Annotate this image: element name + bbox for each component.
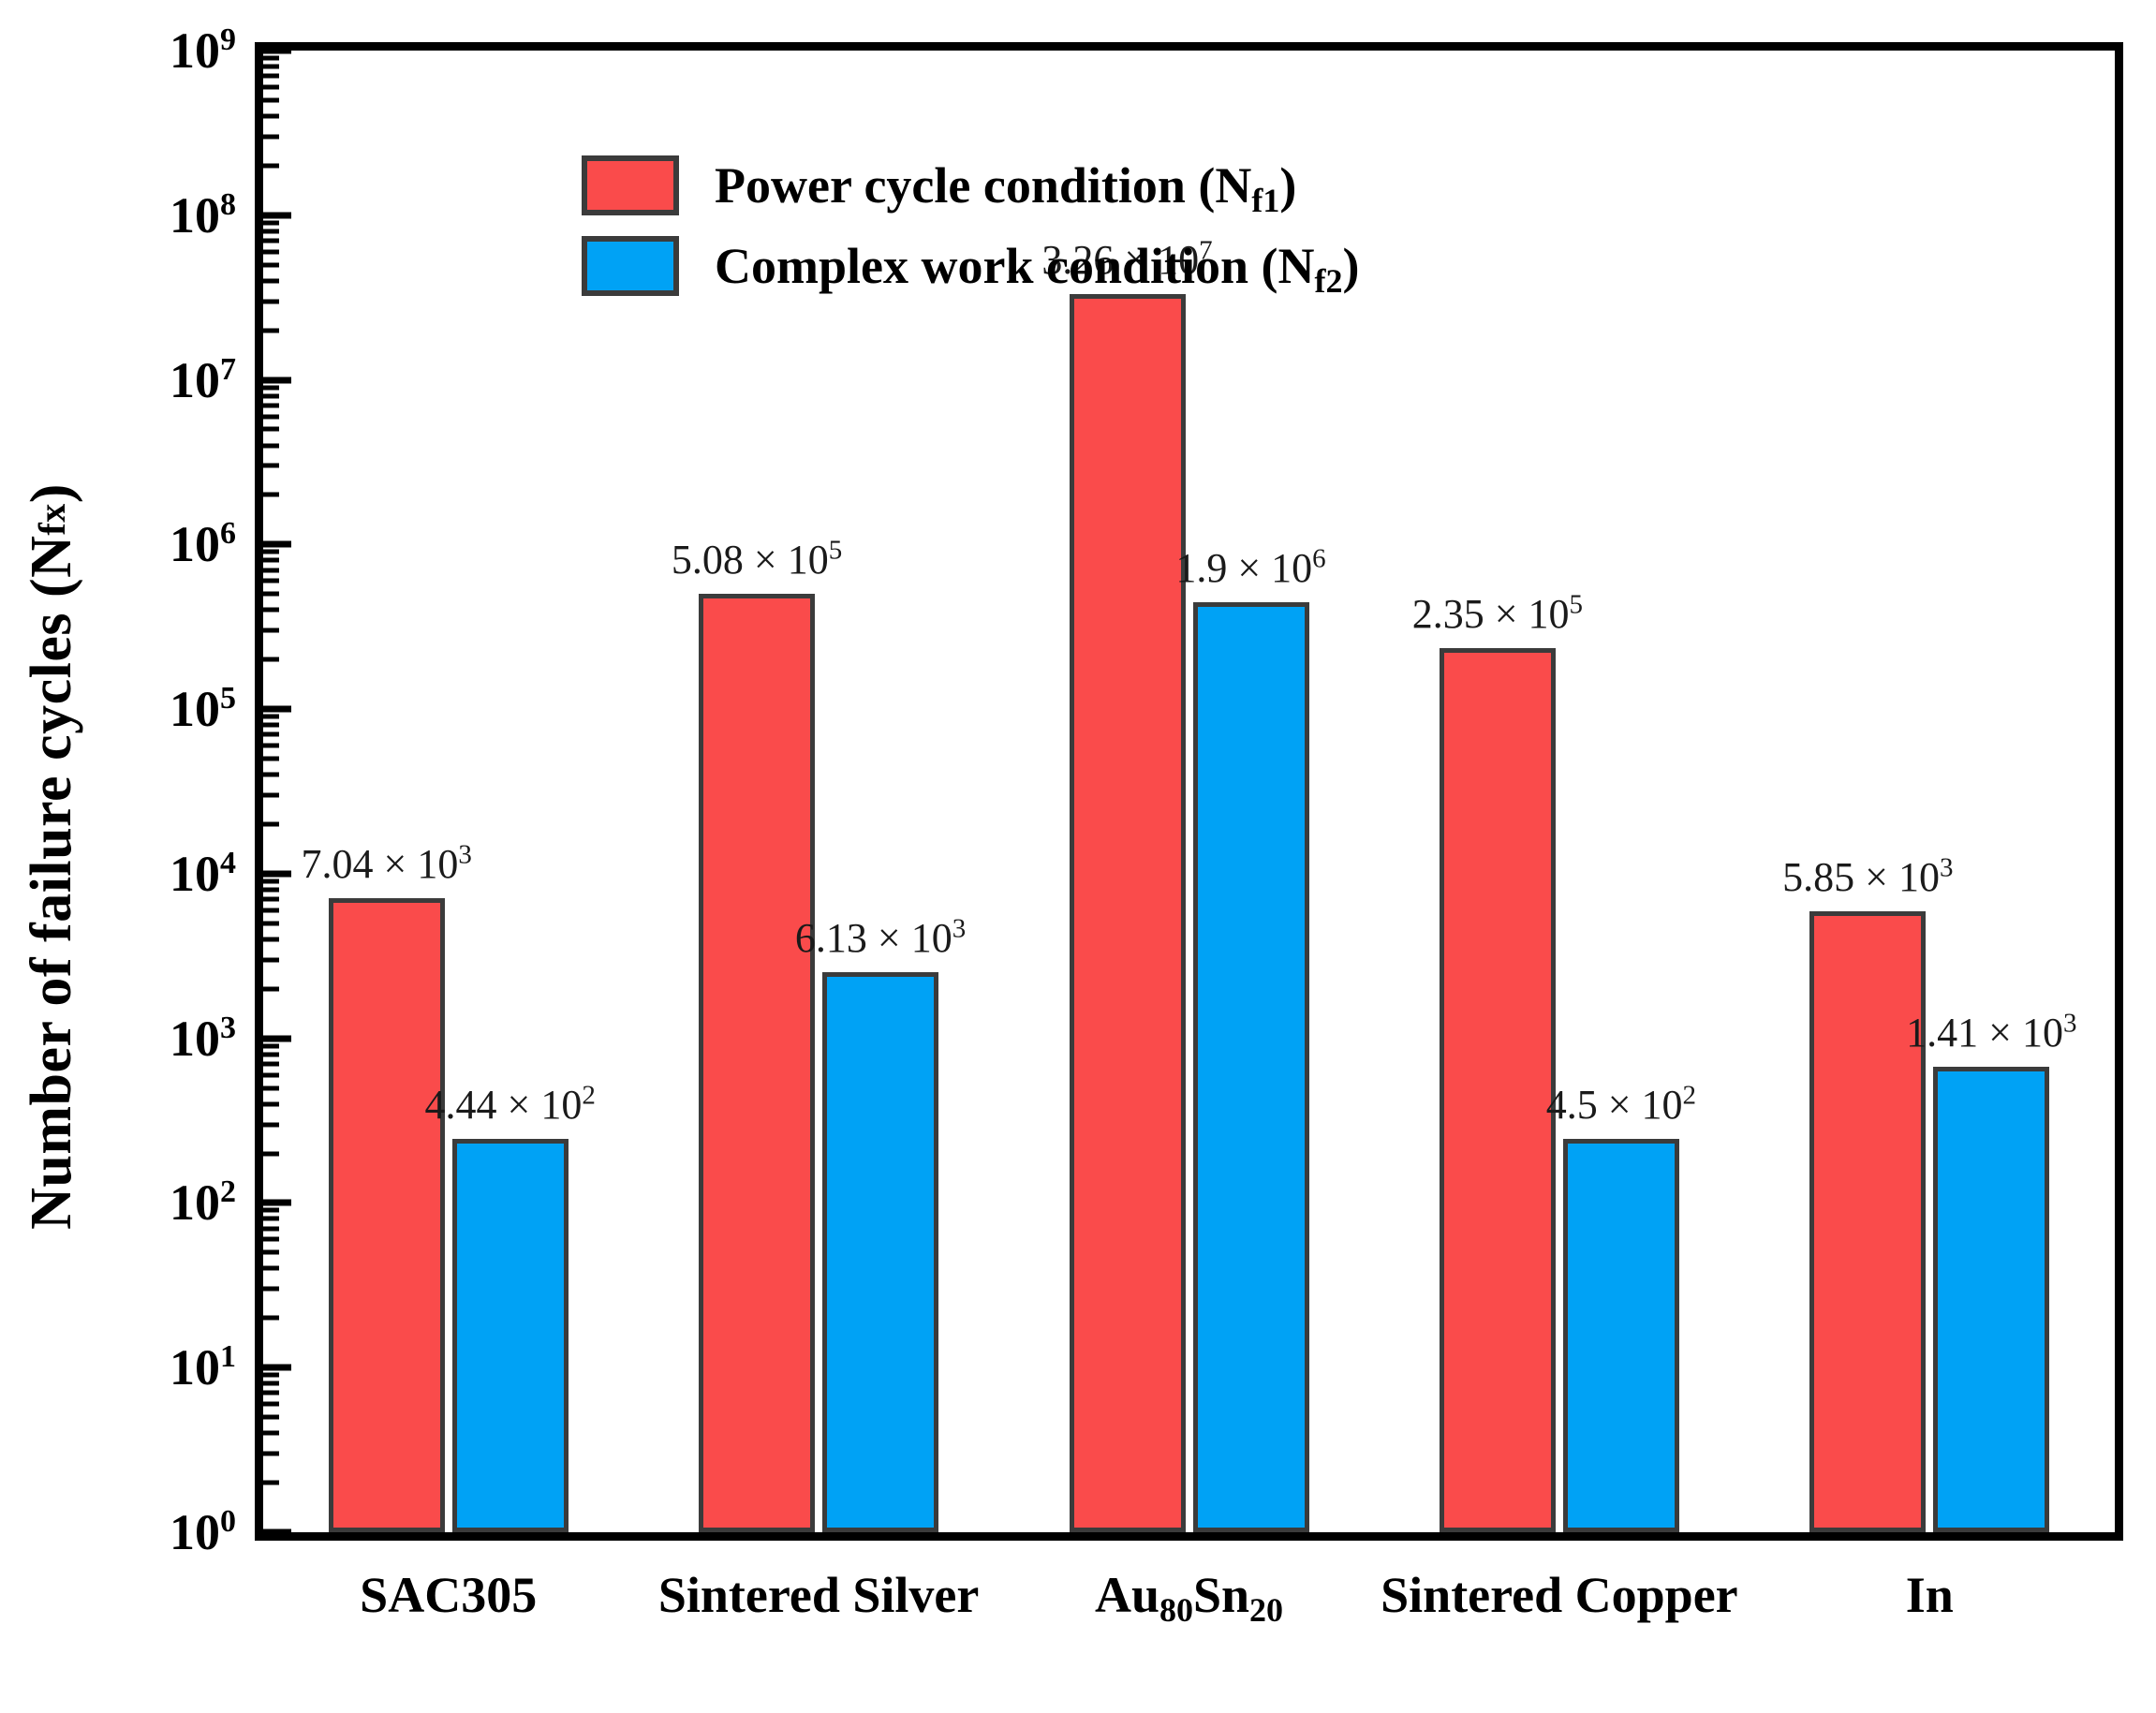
legend-label-subscript: f1: [1251, 182, 1279, 219]
y-axis-minor-tick: [263, 1208, 279, 1213]
y-axis-tick-label: 108: [0, 190, 236, 241]
y-axis-minor-tick: [263, 229, 279, 233]
y-axis-minor-tick: [263, 579, 279, 583]
legend-item[interactable]: Power cycle condition (Nf1): [582, 155, 1360, 215]
bar[interactable]: [452, 1139, 569, 1532]
value-exponent: 3: [2063, 1008, 2077, 1038]
y-axis-minor-tick: [263, 403, 279, 407]
y-tick-exponent: 6: [220, 516, 236, 551]
y-axis-tick-label: 106: [0, 519, 236, 569]
y-axis-minor-tick: [263, 493, 279, 497]
y-tick-exponent: 2: [220, 1174, 236, 1209]
y-axis-minor-tick: [263, 723, 279, 728]
value-mantissa: 5.08 × 10: [672, 537, 829, 583]
bar-value-label: 4.44 × 102: [425, 1081, 596, 1129]
y-tick-exponent: 8: [220, 187, 236, 222]
y-axis-minor-tick: [263, 1381, 279, 1386]
y-axis-minor-tick: [263, 821, 279, 826]
bar[interactable]: [1070, 294, 1186, 1532]
y-axis-minor-tick: [263, 1226, 279, 1231]
x-axis-category-label: Sintered Silver: [658, 1566, 979, 1624]
category-label-text: Au: [1095, 1567, 1159, 1623]
bar-value-label: 5.08 × 105: [672, 536, 842, 583]
y-axis-minor-tick: [263, 744, 279, 748]
y-tick-exponent: 9: [220, 22, 236, 57]
chart-legend: Power cycle condition (Nf1)Complex work …: [582, 155, 1360, 296]
y-axis-minor-tick: [263, 393, 279, 398]
y-axis-minor-tick: [263, 1072, 279, 1077]
y-axis-minor-tick: [263, 163, 279, 168]
y-axis-minor-tick: [263, 608, 279, 613]
legend-label-subscript: f2: [1315, 262, 1343, 300]
y-axis-minor-tick: [263, 56, 279, 61]
bar-value-label: 6.13 × 103: [795, 914, 966, 962]
y-axis-major-tick: [263, 48, 291, 54]
x-axis-category-label: Sintered Copper: [1381, 1566, 1738, 1624]
y-axis-minor-tick: [263, 887, 279, 892]
y-axis-minor-tick: [263, 773, 279, 777]
y-tick-mantissa: 10: [170, 1174, 220, 1231]
y-axis-minor-tick: [263, 1402, 279, 1407]
y-axis-minor-tick: [263, 1373, 279, 1378]
y-axis-major-tick: [263, 377, 291, 383]
legend-color-swatch: [582, 155, 679, 215]
x-axis-category-label: In: [1906, 1566, 1954, 1624]
y-axis-minor-tick: [263, 879, 279, 883]
value-mantissa: 5.85 × 10: [1782, 854, 1940, 900]
category-label-text: Sintered Silver: [658, 1567, 979, 1623]
y-axis-title-suffix: ): [19, 483, 85, 503]
y-axis-minor-tick: [263, 1101, 279, 1106]
y-axis-minor-tick: [263, 1391, 279, 1396]
y-axis-minor-tick: [263, 443, 279, 448]
y-axis-minor-tick: [263, 328, 279, 332]
y-axis-tick-label: 101: [0, 1342, 236, 1393]
x-axis-category-label: SAC305: [360, 1566, 537, 1624]
legend-label-tail: ): [1343, 238, 1360, 294]
legend-label-main: Complex work condition (N: [715, 238, 1315, 294]
bar-value-label: 1.41 × 103: [1906, 1009, 2076, 1056]
y-axis-minor-tick: [263, 1316, 279, 1321]
y-axis-minor-tick: [263, 427, 279, 432]
category-label-subscript: 20: [1249, 1591, 1283, 1629]
y-axis-minor-tick: [263, 299, 279, 303]
y-axis-minor-tick: [263, 657, 279, 662]
legend-label: Power cycle condition (Nf1): [715, 156, 1296, 214]
legend-label: Complex work condition (Nf2): [715, 237, 1360, 295]
y-tick-mantissa: 10: [170, 846, 220, 902]
y-axis-minor-tick: [263, 1452, 279, 1456]
y-axis-minor-tick: [263, 1431, 279, 1436]
legend-label-tail: ): [1279, 157, 1296, 214]
y-axis-tick-label: 104: [0, 849, 236, 899]
y-tick-mantissa: 10: [170, 187, 220, 244]
bar-value-label: 7.04 × 103: [302, 840, 472, 888]
y-axis-minor-tick: [263, 628, 279, 633]
category-label-subscript: 80: [1159, 1591, 1193, 1629]
y-tick-mantissa: 10: [170, 516, 220, 572]
value-exponent: 3: [458, 840, 472, 870]
y-tick-exponent: 4: [220, 846, 236, 880]
y-axis-minor-tick: [263, 65, 279, 69]
y-axis-minor-tick: [263, 793, 279, 798]
y-axis-minor-tick: [263, 1151, 279, 1156]
category-label-text: SAC305: [360, 1567, 537, 1623]
y-axis-major-tick: [263, 706, 291, 713]
y-axis-minor-tick: [263, 957, 279, 962]
y-axis-minor-tick: [263, 1217, 279, 1221]
value-mantissa: 4.44 × 10: [425, 1082, 583, 1128]
y-axis-minor-tick: [263, 550, 279, 554]
y-axis-tick-label: 105: [0, 684, 236, 734]
value-exponent: 3: [1940, 853, 1954, 883]
y-axis-minor-tick: [263, 732, 279, 737]
y-tick-mantissa: 10: [170, 352, 220, 408]
value-exponent: 5: [1570, 589, 1584, 619]
y-axis-minor-tick: [263, 1287, 279, 1292]
legend-label-main: Power cycle condition (N: [715, 157, 1251, 214]
y-tick-mantissa: 10: [170, 22, 220, 79]
y-axis-tick-label: 107: [0, 355, 236, 406]
y-axis-minor-tick: [263, 592, 279, 597]
y-axis-minor-tick: [263, 1043, 279, 1048]
y-axis-minor-tick: [263, 921, 279, 925]
y-axis-minor-tick: [263, 464, 279, 468]
y-axis-minor-tick: [263, 249, 279, 254]
y-axis-major-tick: [263, 1365, 291, 1371]
bar[interactable]: [329, 898, 445, 1532]
y-tick-mantissa: 10: [170, 681, 220, 737]
value-mantissa: 7.04 × 10: [302, 841, 459, 887]
y-axis-major-tick: [263, 1529, 291, 1536]
bar[interactable]: [1809, 911, 1926, 1532]
y-axis-minor-tick: [263, 1250, 279, 1255]
y-axis-minor-tick: [263, 1415, 279, 1420]
y-axis-minor-tick: [263, 1266, 279, 1271]
value-exponent: 2: [1683, 1080, 1697, 1110]
value-exponent: 3: [952, 914, 967, 944]
value-exponent: 6: [1312, 543, 1326, 573]
y-axis-minor-tick: [263, 262, 279, 267]
y-axis-minor-tick: [263, 908, 279, 912]
y-axis-minor-tick: [263, 278, 279, 283]
bar-value-label: 1.9 × 106: [1175, 544, 1325, 592]
y-axis-tick-label: 103: [0, 1013, 236, 1064]
y-tick-exponent: 5: [220, 681, 236, 716]
bar[interactable]: [1933, 1067, 2049, 1532]
y-axis-minor-tick: [263, 1061, 279, 1066]
value-exponent: 2: [582, 1080, 596, 1110]
category-label-text: In: [1906, 1567, 1954, 1623]
y-axis-major-tick: [263, 212, 291, 218]
chart-figure: Number of failure cycles (Nfx) 100101102…: [0, 0, 2156, 1713]
y-axis-minor-tick: [263, 757, 279, 761]
bar[interactable]: [1440, 648, 1556, 1532]
category-label-text: Sn: [1193, 1567, 1249, 1623]
bar[interactable]: [1563, 1139, 1679, 1532]
bar-value-label: 2.35 × 105: [1412, 590, 1583, 638]
y-axis-minor-tick: [263, 1237, 279, 1242]
bar-value-label: 5.85 × 103: [1782, 853, 1953, 901]
y-axis-major-tick: [263, 541, 291, 548]
y-axis-minor-tick: [263, 84, 279, 89]
y-tick-mantissa: 10: [170, 1011, 220, 1067]
y-axis-major-tick: [263, 1035, 291, 1041]
y-axis-minor-tick: [263, 558, 279, 563]
value-mantissa: 1.41 × 10: [1906, 1010, 2063, 1056]
y-axis-minor-tick: [263, 1052, 279, 1056]
y-axis-minor-tick: [263, 1481, 279, 1485]
value-exponent: 5: [829, 535, 843, 565]
y-axis-major-tick: [263, 870, 291, 877]
y-axis-minor-tick: [263, 134, 279, 139]
bar-value-label: 4.5 × 102: [1546, 1081, 1696, 1129]
y-axis-minor-tick: [263, 385, 279, 390]
bar[interactable]: [1193, 602, 1309, 1532]
bar[interactable]: [699, 594, 815, 1532]
legend-color-swatch: [582, 236, 679, 296]
y-axis-tick-label: 109: [0, 25, 236, 76]
y-axis-major-tick: [263, 1200, 291, 1206]
y-axis-tick-label: 102: [0, 1177, 236, 1228]
value-mantissa: 1.9 × 10: [1175, 545, 1312, 591]
y-axis-minor-tick: [263, 715, 279, 719]
y-axis-minor-tick: [263, 1085, 279, 1090]
y-tick-mantissa: 10: [170, 1339, 220, 1396]
y-axis-minor-tick: [263, 937, 279, 941]
bar[interactable]: [822, 972, 938, 1532]
value-mantissa: 2.35 × 10: [1412, 591, 1570, 637]
category-label-text: Sintered Copper: [1381, 1567, 1738, 1623]
x-axis-category-label: Au80Sn20: [1095, 1566, 1283, 1624]
y-axis-minor-tick: [263, 74, 279, 79]
legend-item[interactable]: Complex work condition (Nf2): [582, 236, 1360, 296]
y-axis-minor-tick: [263, 97, 279, 102]
y-tick-exponent: 7: [220, 352, 236, 387]
plot-area: 7.04 × 1034.44 × 1025.08 × 1056.13 × 103…: [255, 42, 2123, 1541]
y-axis-minor-tick: [263, 220, 279, 225]
y-axis-tick-label: 100: [0, 1507, 236, 1558]
y-tick-exponent: 1: [220, 1339, 236, 1374]
y-axis-minor-tick: [263, 239, 279, 244]
y-axis-minor-tick: [263, 113, 279, 118]
y-tick-mantissa: 10: [170, 1504, 220, 1560]
y-axis-minor-tick: [263, 568, 279, 572]
y-axis-minor-tick: [263, 986, 279, 991]
value-mantissa: 4.5 × 10: [1546, 1082, 1683, 1128]
y-axis-minor-tick: [263, 897, 279, 902]
y-axis-minor-tick: [263, 1122, 279, 1127]
y-tick-exponent: 0: [220, 1504, 236, 1539]
value-mantissa: 6.13 × 10: [795, 915, 952, 961]
y-axis-minor-tick: [263, 414, 279, 419]
y-tick-exponent: 3: [220, 1011, 236, 1045]
